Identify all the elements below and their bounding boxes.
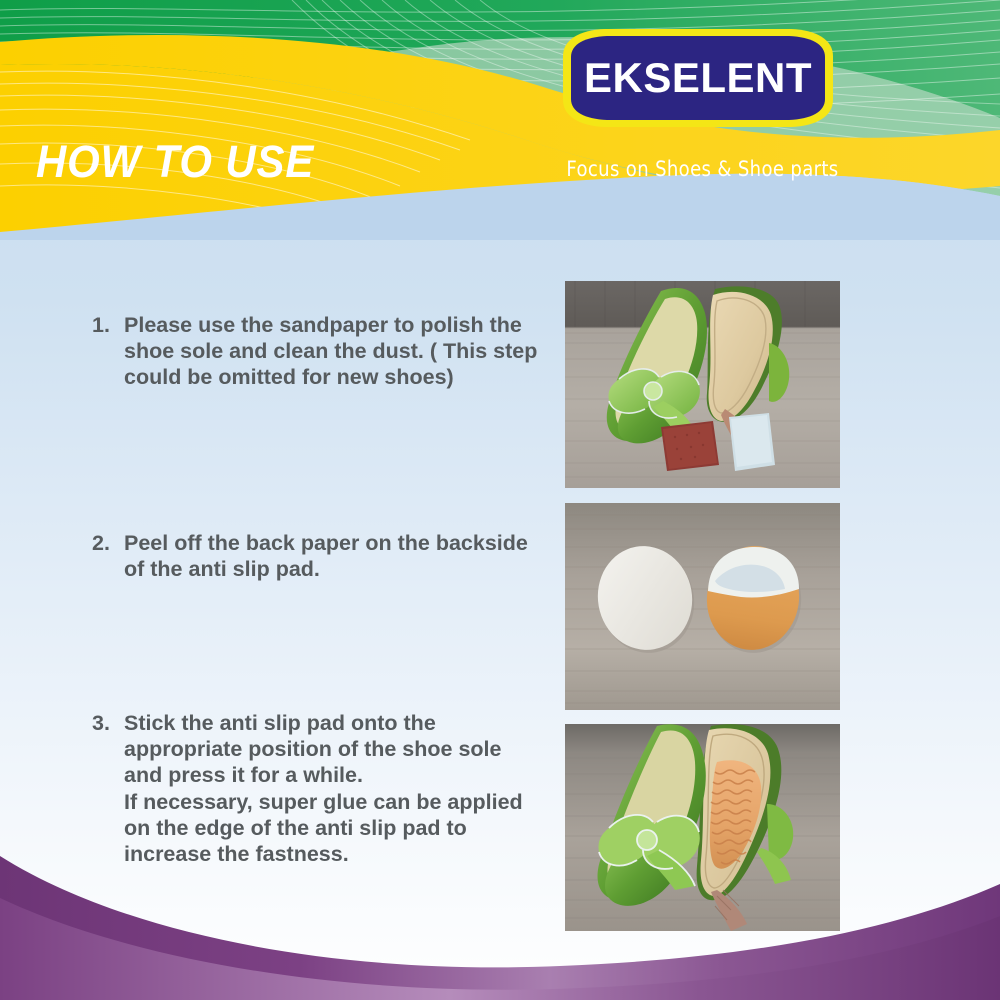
brand-tagline: Focus on Shoes & Shoe parts (566, 157, 829, 181)
page-title: HOW TO USE (36, 139, 314, 184)
photo-2-illustration (565, 503, 840, 710)
photo-shoes-with-sandpaper (565, 281, 840, 488)
step-number-1: 1. (92, 312, 124, 338)
brand-logo: EKSELENT (545, 26, 851, 130)
step-item-2: 2. Peel off the back paper on the backsi… (92, 530, 544, 582)
photo-1-illustration (565, 281, 840, 488)
photo-anti-slip-pads (565, 503, 840, 710)
step-text-1: Please use the sandpaper to polish the s… (124, 312, 544, 391)
step-number-3: 3. (92, 710, 124, 736)
step-text-2: Peel off the back paper on the backside … (124, 530, 544, 582)
header-banner: EKSELENT Focus on Shoes & Shoe parts HOW… (0, 0, 1000, 240)
step-item-1: 1. Please use the sandpaper to polish th… (92, 312, 544, 391)
footer-wave-graphic (0, 840, 1000, 1000)
step-number-2: 2. (92, 530, 124, 556)
logo-wordmark: EKSELENT (545, 57, 851, 99)
poster-root: EKSELENT Focus on Shoes & Shoe parts HOW… (0, 0, 1000, 1000)
footer-wave (0, 840, 1000, 1000)
